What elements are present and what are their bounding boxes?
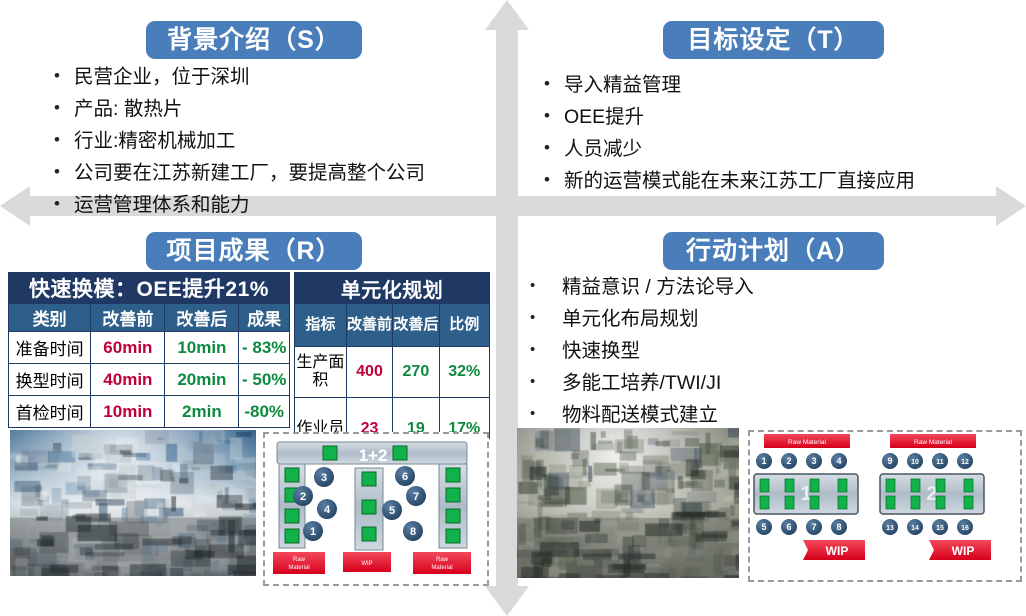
cell2-operator-16: 16 <box>961 525 969 532</box>
table-row-header: 类别 改善前 改善后 成果 <box>9 304 290 332</box>
store-wip: WIP <box>361 561 372 567</box>
banner-situation: 背景介绍（S） <box>146 21 362 59</box>
cell2-operator-14: 14 <box>911 525 919 532</box>
cell1-operator-7: 7 <box>811 522 816 532</box>
cell1-operator-8: 8 <box>836 522 841 532</box>
cell2-operator-11: 11 <box>936 459 944 466</box>
list-item: 导入精益管理 <box>540 70 915 100</box>
cell1-operator-5: 5 <box>761 522 766 532</box>
list-item: 行业:精密机械加工 <box>50 126 425 156</box>
operator-6: 6 <box>402 471 408 483</box>
list-item-continuation: 运营管理体系和能力 <box>50 190 425 220</box>
cell-after: 270 <box>393 347 439 398</box>
cell-after: 20min <box>165 364 239 396</box>
svg-text:Material: Material <box>288 565 309 571</box>
list-item: 快速换型 <box>524 336 754 366</box>
cell-category: 换型时间 <box>9 364 91 396</box>
list-item: 物料配送模式建立 <box>524 400 754 430</box>
operator-7: 7 <box>413 491 419 503</box>
cell1-operator-6: 6 <box>786 522 791 532</box>
bullets-action: 精益意识 / 方法论导入 单元化布局规划 快速换型 多能工培养/TWI/JI 物… <box>524 272 754 432</box>
table-smed: 快速换模：OEE提升21% 类别 改善前 改善后 成果 准备时间 60min 1… <box>8 272 290 428</box>
list-item: 公司要在江苏新建工厂，要提高整个公司 <box>50 158 425 188</box>
operator-1: 1 <box>310 526 316 538</box>
cell-ratio: 32% <box>439 347 489 398</box>
list-item: 民营企业，位于深圳 <box>50 62 425 92</box>
banner-action: 行动计划（A） <box>663 232 884 270</box>
bullets-target: 导入精益管理 OEE提升 人员减少 新的运营模式能在未来江苏工厂直接应用 <box>540 70 915 198</box>
bullets-situation: 民营企业，位于深圳 产品: 散热片 行业:精密机械加工 公司要在江苏新建工厂，要… <box>50 62 425 222</box>
cell-result: -80% <box>239 396 290 428</box>
list-item: 新的运营模式能在未来江苏工厂直接应用 <box>540 166 915 196</box>
cell1-operator-3: 3 <box>811 456 816 466</box>
col-header-ratio: 比例 <box>439 304 489 347</box>
col-header-after: 改善后 <box>393 304 439 347</box>
operator-5: 5 <box>389 505 395 517</box>
cell2-operator-13: 13 <box>886 525 894 532</box>
col-header-before: 改善前 <box>346 304 392 347</box>
col-header-category: 类别 <box>9 304 91 332</box>
operator-2: 2 <box>300 491 306 503</box>
table-smed-title: 快速换模：OEE提升21% <box>9 273 290 304</box>
store-raw-material-left: Raw <box>293 557 306 563</box>
table-row: 准备时间 60min 10min - 83% <box>9 332 290 364</box>
cell-before: 40min <box>91 364 165 396</box>
table-row: 首检时间 10min 2min -80% <box>9 396 290 428</box>
cell2-raw-material: Raw Material <box>914 439 952 446</box>
cell2-operator-15: 15 <box>936 525 944 532</box>
col-header-before: 改善前 <box>91 304 165 332</box>
u-cell-layout-diagram: 1+2 1 2 3 4 5 6 <box>263 432 489 586</box>
cell-before: 400 <box>346 347 392 398</box>
cell-result: - 83% <box>239 332 290 364</box>
cell2-operator-10: 10 <box>911 459 919 466</box>
cell1-raw-material: Raw Material <box>788 439 826 446</box>
line-cell-layout-diagram: Raw Material 1 2 3 4 1 5 6 7 8 <box>748 430 1022 582</box>
cell-category: 首检时间 <box>9 396 91 428</box>
cell-after: 2min <box>165 396 239 428</box>
table-row-header: 指标 改善前 改善后 比例 <box>295 304 490 347</box>
operator-4: 4 <box>324 504 331 516</box>
cell1-operator-1: 1 <box>761 456 766 466</box>
cell-before: 60min <box>91 332 165 364</box>
banner-target: 目标设定（T） <box>663 21 884 59</box>
operator-8: 8 <box>410 526 416 538</box>
list-item: 人员减少 <box>540 134 915 164</box>
factory-floor-photo <box>10 430 256 576</box>
list-item: 精益意识 / 方法论导入 <box>524 272 754 302</box>
col-header-metric: 指标 <box>295 304 347 347</box>
col-header-result: 成果 <box>239 304 290 332</box>
cell-category: 准备时间 <box>9 332 91 364</box>
cell1-wip: WIP <box>826 544 849 558</box>
list-item: 单元化布局规划 <box>524 304 754 334</box>
svg-text:Material: Material <box>431 565 452 571</box>
store-raw-material-right: Raw <box>436 557 449 563</box>
workshop-photo <box>517 428 739 578</box>
list-item: 多能工培养/TWI/JI <box>524 368 754 398</box>
col-header-after: 改善后 <box>165 304 239 332</box>
cell1-operator-4: 4 <box>836 456 841 466</box>
table-cell-planning: 单元化规划 指标 改善前 改善后 比例 生产面积 400 270 32% 作业员… <box>294 272 490 439</box>
table-row: 换型时间 40min 20min - 50% <box>9 364 290 396</box>
table-row: 生产面积 400 270 32% <box>295 347 490 398</box>
cell1-operator-2: 2 <box>786 456 791 466</box>
table-cell-planning-title: 单元化规划 <box>295 273 490 304</box>
cell-before: 10min <box>91 396 165 428</box>
banner-result: 项目成果（R） <box>146 232 362 270</box>
list-item: OEE提升 <box>540 102 915 132</box>
u-cell-label: 1+2 <box>359 446 388 465</box>
list-item: 产品: 散热片 <box>50 94 425 124</box>
cell-metric: 生产面积 <box>295 347 347 398</box>
operator-3: 3 <box>321 472 327 484</box>
cell-result: - 50% <box>239 364 290 396</box>
star-quadrant-slide: 背景介绍（S） 民营企业，位于深圳 产品: 散热片 行业:精密机械加工 公司要在… <box>0 0 1026 616</box>
cell-after: 10min <box>165 332 239 364</box>
cell2-operator-12: 12 <box>961 459 969 466</box>
cell2-wip: WIP <box>952 544 975 558</box>
cell2-operator-9: 9 <box>887 456 892 466</box>
